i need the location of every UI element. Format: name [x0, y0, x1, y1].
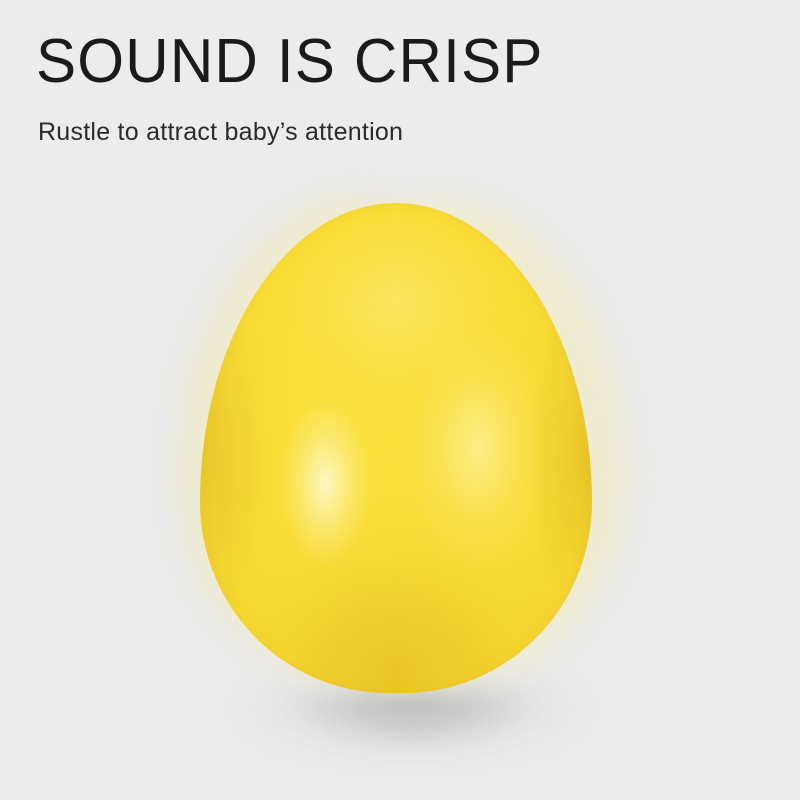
page-subtitle: Rustle to attract baby’s attention — [38, 118, 403, 147]
page-title: SOUND IS CRISP — [36, 30, 544, 93]
product-poster: SOUND IS CRISP Rustle to attract baby’s … — [0, 0, 800, 800]
